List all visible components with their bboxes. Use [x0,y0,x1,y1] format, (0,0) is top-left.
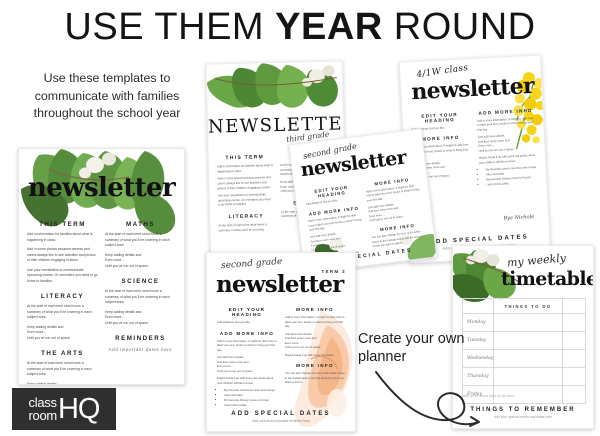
poster-canvas: USE THEM YEAR ROUND Use these templates … [0,0,600,436]
planner-callout: Create your own planner [358,330,476,366]
day-label: Monday [463,314,494,331]
section-text: Use your newsletters to communicate upco… [218,192,274,207]
table-row[interactable]: Tuesday [463,332,585,350]
section-heading: ADD MORE INFO [217,331,277,336]
section-bullet-list: My favourite colours are blue and orange… [217,388,277,408]
card-column-1: EDIT YOUR HEADING Add whatever text you … [217,301,277,408]
section-text: Just add more details. And then some mor… [217,355,277,373]
row-cell-tasks[interactable] [494,368,563,385]
section-heading: MATHS [105,221,176,228]
section-text: Add whatever text you like. [217,320,277,325]
page-title-after: ROUND [383,6,536,48]
row-cell-tasks[interactable] [494,350,563,367]
section-text: At the start of each term send home a su… [105,289,176,306]
header-cell-day [463,299,494,313]
section-text: Add in some photos because parents and c… [217,175,273,190]
section-heading: SCIENCE [105,278,176,285]
table-header-row: THINGS TO DO [463,299,585,314]
section-text: Keep adding details and Even more ... Un… [27,325,98,342]
section-heading: REMINDERS [105,335,176,342]
intro-paragraph: Use these templates to communicate with … [14,70,200,123]
brand-logo-mark: HQ [58,395,100,424]
brand-logo[interactable]: class room HQ [12,388,116,430]
page-title-before: USE THEM [64,6,275,48]
card-title: newsletter [19,173,184,203]
section-text: Add in information for families about wh… [217,163,273,174]
section-text: Keep adding details and Even more ... Un… [105,310,176,327]
list-item: I don't drink coffee [224,403,277,408]
row-cell-tasks[interactable] [494,314,563,331]
card-column-2: MATHS At the start of each term send hom… [105,212,176,385]
section-text: Maybe break it up with some dot points. [285,353,345,358]
section-heading: ADD MORE INFO [476,108,534,116]
brand-logo-line2: room [29,409,57,422]
section-text: Add in information for families about wh… [27,232,98,243]
section-text: At the start of each term send home a su… [218,222,274,233]
card-script-label: second grade [221,257,283,271]
brand-logo-wrap: class room HQ [29,395,100,424]
section-text: Maybe break it up with some dot points a… [217,376,277,385]
row-cell-extra[interactable] [563,332,585,349]
brand-logo-words: class room [29,396,57,422]
table-row[interactable]: Wednesday [463,350,585,368]
section-text: Just add more details. And then some mor… [368,200,424,224]
card-columns: EDIT YOUR HEADING Add whatever text you … [217,301,345,408]
card-signature: Bye Nichole [503,214,534,222]
section-text: Use your newsletters to communicate upco… [27,268,98,285]
eucalyptus-band-icon [207,61,343,114]
section-heading: THIS TERM [217,154,273,161]
section-heading: MORE INFO [285,363,345,368]
card-columns: THIS TERM Add in information for familie… [27,212,176,385]
section-text: At the start of each term send home a su… [27,304,98,321]
footer-subtitle: Add your most important reminder here [207,419,355,423]
header-cell-extra [563,299,585,313]
card-columns: EDIT YOUR HEADING Add whatever text you … [410,102,538,191]
footer-title: ADD SPECIAL DATES [207,411,355,417]
section-heading: LITERACY [27,293,98,300]
row-cell-extra[interactable] [563,314,585,331]
card-title: newsletter [216,271,343,298]
section-heading: EDIT YOUR HEADING [217,307,277,317]
header-cell-things-to-do: THINGS TO DO [494,299,563,313]
table-row[interactable]: Monday [463,314,585,332]
card-footer: ADD SPECIAL DATES Add your most importan… [207,411,355,423]
section-text: Just add more details. And then some mor… [478,132,537,153]
section-text: Keep adding details. [27,382,98,385]
row-cell-extra[interactable] [563,368,585,385]
page-title-emphasis: YEAR [275,6,383,48]
card-title: timetable [501,268,594,290]
section-text: Add in more information. It might be abl… [285,315,345,329]
section-bullet-list: My favourite colours are blue and orange… [479,165,538,188]
row-cell-tasks[interactable] [494,332,563,349]
card-column-1: THIS TERM Add in information for familie… [27,212,98,385]
section-text: Add in more information. It might be abl… [217,339,277,353]
section-heading: THIS TERM [27,221,98,228]
section-text: Just add more details. And then some mor… [285,332,345,350]
section-text: Add important dates here [105,346,176,353]
card-column-2: MORE INFO Add in more information. It mi… [285,301,345,408]
section-text: Maybe break it up with some dot points a… [479,153,537,165]
template-card-bottom-centre-newsletter[interactable]: second grade TERM 3 newsletter EDIT YOUR… [206,252,356,432]
card-column-1: THIS TERM Add in information for familie… [217,147,275,236]
card-column-2: ADD MORE INFO Add in more information. I… [476,102,538,188]
row-cell-extra[interactable] [563,350,585,367]
section-text: At the start of each term send home a su… [27,361,98,378]
row-cell-extra[interactable] [563,386,585,403]
section-heading: THE ARTS [27,350,98,357]
section-text: At the start of each term send home a su… [105,232,176,249]
section-text: Add in more information. It might be abl… [477,116,536,132]
section-text: Add in some photos because parents and c… [27,247,98,264]
page-title: USE THEM YEAR ROUND [0,8,600,48]
template-card-left-newsletter[interactable]: newsletter THIS TERM Add in information … [18,148,185,385]
section-heading: EDIT YOUR HEADING [411,111,469,124]
section-text: You can also change the size of the whit… [285,371,345,385]
section-heading: LITERACY [218,213,274,220]
curved-arrow-icon [372,370,482,428]
section-text: Keep adding details and Even more ... Un… [105,253,176,270]
section-heading: MORE INFO [285,307,345,312]
